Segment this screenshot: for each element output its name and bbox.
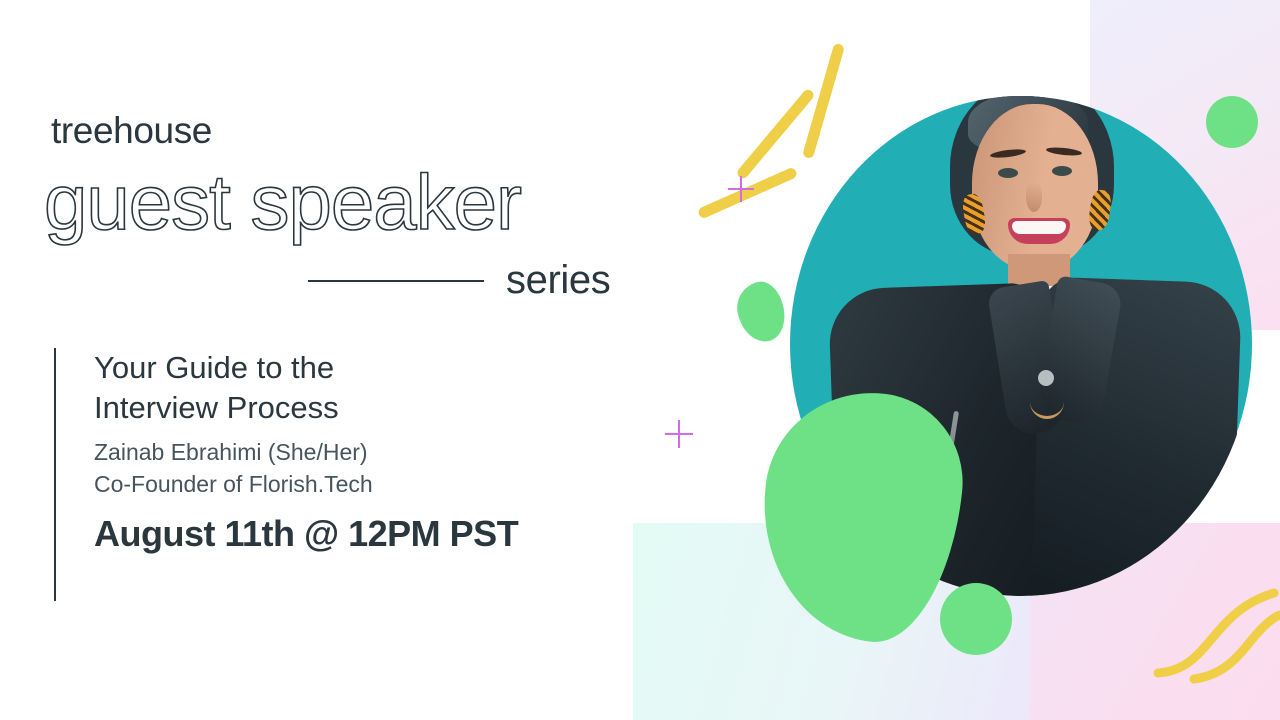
series-row: series [308,258,610,303]
headline-outline-text: guest speaker [44,163,521,241]
portrait-eye-left [998,168,1018,178]
portrait-mouth [1008,218,1070,244]
plus-icon-upper [728,176,754,202]
series-label: series [506,258,610,303]
event-datetime: August 11th @ 12PM PST [94,513,518,555]
brand-wordmark: treehouse [51,110,212,152]
series-divider-rule [308,280,484,282]
portrait-eye-right [1052,166,1072,176]
talk-title: Your Guide to the Interview Process [94,348,518,427]
plus-icon-lower [665,420,693,448]
event-details-block: Your Guide to the Interview Process Zain… [54,348,518,601]
promo-banner: treehouse guest speaker series Your Guid… [0,0,1280,720]
green-blob-small-shape [732,278,789,346]
yellow-wave-lines [1150,575,1280,685]
portrait-jacket-stud [1038,370,1054,386]
portrait-nose [1026,182,1042,212]
green-circle-bottom-shape [940,583,1012,655]
speaker-name: Zainab Ebrahimi (She/Her) [94,437,518,469]
speaker-role: Co-Founder of Florish.Tech [94,469,518,501]
portrait-teeth [1012,221,1066,234]
